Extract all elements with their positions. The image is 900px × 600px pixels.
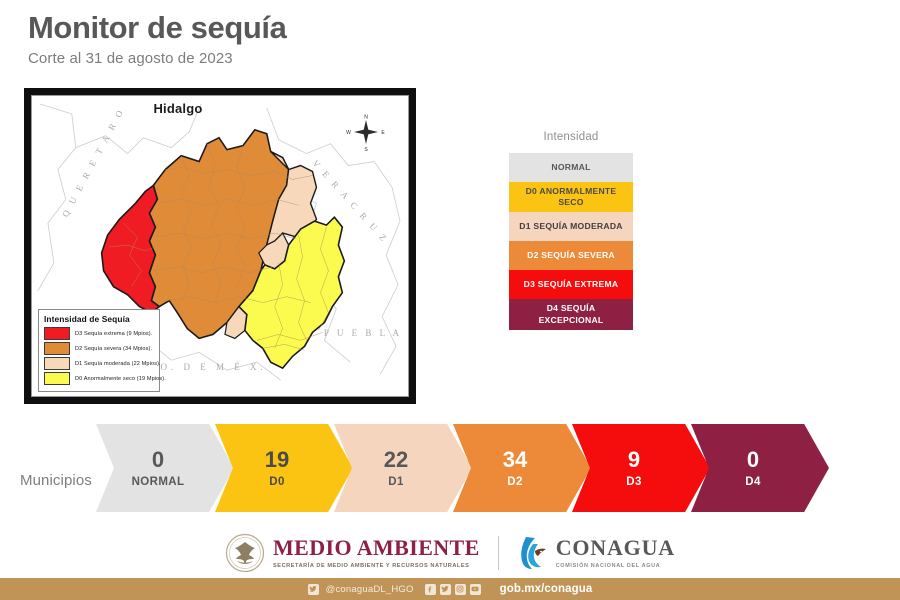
municipio-code-d0: D0 xyxy=(269,476,285,488)
municipio-code-normal: NORMAL xyxy=(132,476,185,488)
municipio-chevron-d3: 9 D3 xyxy=(572,424,710,512)
municipio-chevron-d1: 22 D1 xyxy=(334,424,472,512)
svg-text:E: E xyxy=(381,130,385,136)
intensity-list: NORMAL D0 ANORMALMENTE SECO D1 SEQUÍA MO… xyxy=(509,153,633,330)
medio-ambiente-subtitle: SECRETARÍA DE MEDIO AMBIENTE Y RECURSOS … xyxy=(273,563,480,569)
svg-text:W: W xyxy=(346,130,351,136)
twitter-icon[interactable] xyxy=(308,584,319,595)
intensity-row-d1: D1 SEQUÍA MODERADA xyxy=(509,212,633,241)
mexico-eagle-seal-icon xyxy=(225,533,265,573)
municipios-label: Municipios xyxy=(20,472,92,489)
map-legend-label-d2: D2 Sequía severa (34 Mpios). xyxy=(75,346,152,352)
map-legend-item-d0: D0 Anormalmente seco (19 Mpios). xyxy=(44,372,155,385)
conagua-logo: CONAGUA COMISIÓN NACIONAL DEL AGUA xyxy=(517,535,675,571)
intensity-row-d0: D0 ANORMALMENTE SECO xyxy=(509,182,633,212)
logo-divider xyxy=(498,536,499,570)
twitter-icon[interactable] xyxy=(440,584,451,595)
website-link[interactable]: gob.mx/conagua xyxy=(500,583,593,595)
map-legend-label-d0: D0 Anormalmente seco (19 Mpios). xyxy=(75,376,166,382)
municipio-chevron-d0: 19 D0 xyxy=(215,424,353,512)
bottom-social-bar: @conaguaDL_HGO gob.mx/conagua xyxy=(0,578,900,600)
map-legend-item-d3: D3 Sequía extrema (9 Mpios). xyxy=(44,327,155,340)
map-legend-label-d3: D3 Sequía extrema (9 Mpios). xyxy=(75,331,152,337)
municipio-count-normal: 0 xyxy=(152,449,164,471)
footer-logos: MEDIO AMBIENTE SECRETARÍA DE MEDIO AMBIE… xyxy=(0,528,900,578)
header: Monitor de sequía Corte al 31 de agosto … xyxy=(28,12,286,67)
svg-text:N: N xyxy=(364,115,368,121)
map-canvas: Hidalgo N S W E Q U E R E T A R O V E R … xyxy=(31,95,409,397)
intensity-row-d4: D4 SEQUÍA EXCEPCIONAL xyxy=(509,299,633,329)
municipio-code-d3: D3 xyxy=(626,476,642,488)
municipio-chevron-d2: 34 D2 xyxy=(453,424,591,512)
intensity-row-d2: D2 SEQUÍA SEVERA xyxy=(509,241,633,270)
medio-ambiente-title: MEDIO AMBIENTE xyxy=(273,537,480,559)
map-panel: Hidalgo N S W E Q U E R E T A R O V E R … xyxy=(24,88,416,404)
svg-text:S: S xyxy=(364,147,368,152)
municipio-count-d3: 9 xyxy=(628,449,640,471)
conagua-water-icon xyxy=(517,535,549,571)
municipio-count-d1: 22 xyxy=(384,449,408,471)
municipio-count-d2: 34 xyxy=(503,449,527,471)
map-legend: Intensidad de Sequía D3 Sequía extrema (… xyxy=(38,309,160,392)
municipio-code-d4: D4 xyxy=(745,476,761,488)
conagua-title: CONAGUA xyxy=(556,537,675,559)
municipio-chevron-normal: 0 NORMAL xyxy=(96,424,234,512)
neighbor-label-puebla: P U E B L A xyxy=(324,328,402,338)
compass-rose-icon: N S W E xyxy=(346,112,386,152)
map-legend-item-d2: D2 Sequía severa (34 Mpios). xyxy=(44,342,155,355)
instagram-icon[interactable] xyxy=(455,584,466,595)
municipio-count-d0: 19 xyxy=(265,449,289,471)
municipio-code-d1: D1 xyxy=(388,476,404,488)
municipios-strip: Municipios 0 NORMAL 19 D0 22 D1 34 D2 9 … xyxy=(0,420,900,516)
map-legend-item-d1: D1 Sequía moderada (22 Mpios). xyxy=(44,357,155,370)
map-legend-title: Intensidad de Sequía xyxy=(44,314,155,324)
swatch-d1 xyxy=(44,357,70,370)
swatch-d2 xyxy=(44,342,70,355)
infographic-page: Monitor de sequía Corte al 31 de agosto … xyxy=(0,0,900,600)
swatch-d3 xyxy=(44,327,70,340)
intensity-legend: Intensidad NORMAL D0 ANORMALMENTE SECO D… xyxy=(509,131,633,330)
medio-ambiente-logo: MEDIO AMBIENTE SECRETARÍA DE MEDIO AMBIE… xyxy=(225,533,480,573)
facebook-icon[interactable] xyxy=(425,584,436,595)
municipio-code-d2: D2 xyxy=(507,476,523,488)
page-title: Monitor de sequía xyxy=(28,12,286,45)
intensity-caption: Intensidad xyxy=(509,131,633,143)
intensity-row-normal: NORMAL xyxy=(509,153,633,182)
page-subtitle: Corte al 31 de agosto de 2023 xyxy=(28,50,286,67)
youtube-icon[interactable] xyxy=(470,584,481,595)
swatch-d0 xyxy=(44,372,70,385)
conagua-subtitle: COMISIÓN NACIONAL DEL AGUA xyxy=(556,563,675,569)
social-handle: @conaguaDL_HGO xyxy=(326,584,414,595)
map-legend-label-d1: D1 Sequía moderada (22 Mpios). xyxy=(75,361,161,367)
municipio-count-d4: 0 xyxy=(747,449,759,471)
municipio-chevron-d4: 0 D4 xyxy=(691,424,829,512)
intensity-row-d3: D3 SEQUÍA EXTREMA xyxy=(509,270,633,299)
